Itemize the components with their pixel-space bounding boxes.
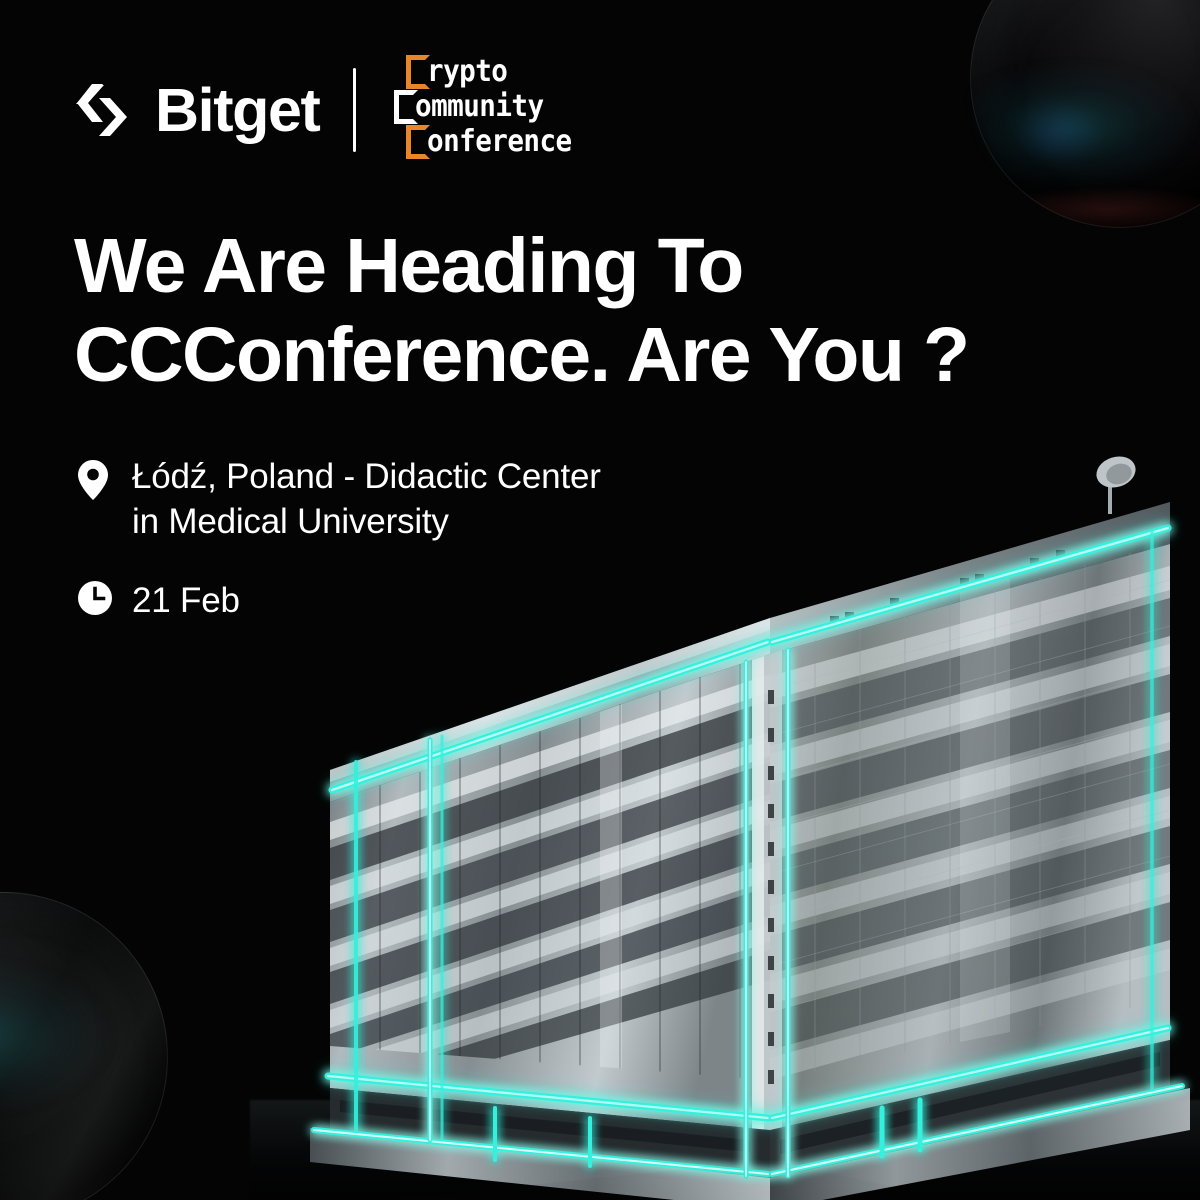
location-line-1: Łódź, Poland - Didactic Center: [132, 455, 601, 500]
logo-divider: [353, 68, 356, 152]
ccc-word-crypto: rypto: [427, 57, 507, 87]
location-line-2: in Medical University: [132, 500, 601, 545]
event-date-text: 21 Feb: [132, 579, 240, 624]
promo-poster: Bitget rypto ommunity onference We Are H…: [0, 0, 1200, 1200]
floor-plane: [250, 1100, 1200, 1200]
ccc-word-community: ommunity: [415, 92, 544, 122]
satellite-dish-icon: [1092, 452, 1139, 514]
ccc-line-3: onference: [406, 125, 584, 159]
crypto-community-conference-logo[interactable]: rypto ommunity onference: [394, 57, 554, 163]
clock-icon: [78, 579, 120, 615]
event-location-row: Łódź, Poland - Didactic Center in Medica…: [78, 455, 778, 545]
bitget-double-chevron-icon: [76, 83, 138, 137]
event-details: Łódź, Poland - Didactic Center in Medica…: [78, 455, 778, 657]
headline-line-2: CCConference. Are You ?: [74, 311, 1074, 400]
location-pin-icon: [78, 455, 120, 500]
page-title: We Are Heading To CCConference. Are You …: [74, 222, 1074, 399]
decorative-sphere-top-right: [970, 0, 1200, 228]
header-logos: Bitget rypto ommunity onference: [76, 62, 554, 158]
date-line-1: 21 Feb: [132, 579, 240, 624]
decorative-sphere-bottom-left: [0, 892, 168, 1200]
event-location-text: Łódź, Poland - Didactic Center in Medica…: [132, 455, 601, 545]
headline-line-1: We Are Heading To: [74, 222, 1074, 311]
bitget-logo[interactable]: Bitget: [76, 80, 319, 141]
ccc-word-conference: onference: [427, 127, 572, 157]
bitget-wordmark: Bitget: [155, 80, 319, 141]
event-date-row: 21 Feb: [78, 579, 778, 624]
ccc-line-1: rypto: [406, 55, 514, 89]
ccc-line-2: ommunity: [394, 90, 555, 124]
